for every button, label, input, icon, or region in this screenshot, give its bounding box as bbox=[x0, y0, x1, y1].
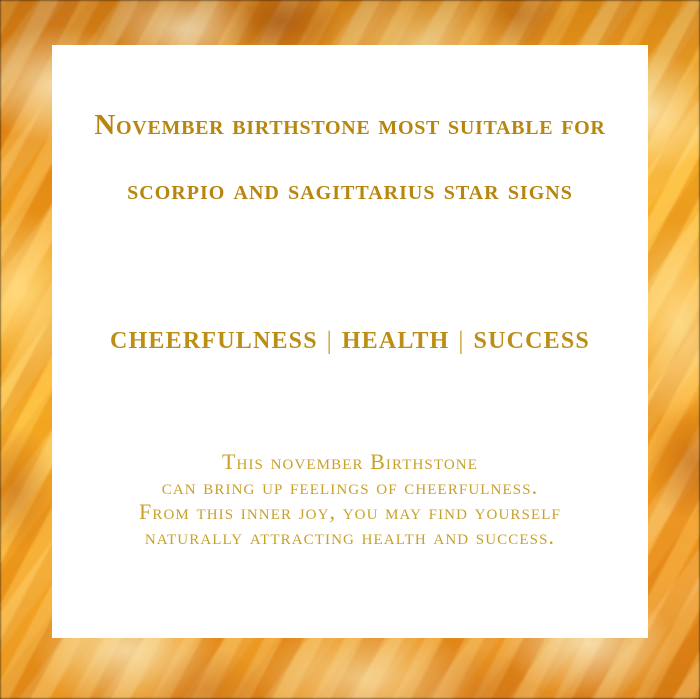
headline-block: November birthstone most suitable for sc… bbox=[52, 111, 648, 205]
keyword-cheerfulness: CHEERFULNESS bbox=[110, 328, 318, 354]
citrine-birthstone-graphic: November birthstone most suitable for sc… bbox=[0, 0, 700, 699]
keyword-separator-1: | bbox=[318, 327, 342, 355]
keyword-health: HEALTH bbox=[342, 328, 450, 354]
body-line-1: This november Birthstone bbox=[52, 449, 648, 474]
white-info-card: November birthstone most suitable for sc… bbox=[52, 45, 648, 638]
body-paragraph: This november Birthstone can bring up fe… bbox=[52, 449, 648, 549]
keyword-separator-2: | bbox=[450, 327, 474, 355]
body-line-3: From this inner joy, you may find yourse… bbox=[52, 499, 648, 524]
headline-line-2: scorpio and sagittarius star signs bbox=[52, 176, 648, 205]
headline-line-1: November birthstone most suitable for bbox=[52, 111, 648, 140]
body-line-2: can bring up feelings of cheerfulness. bbox=[52, 474, 648, 499]
keywords-line: CHEERFULNESS|HEALTH|SUCCESS bbox=[52, 328, 648, 355]
keyword-success: SUCCESS bbox=[474, 328, 590, 354]
body-line-4: naturally attracting health and success. bbox=[52, 524, 648, 549]
